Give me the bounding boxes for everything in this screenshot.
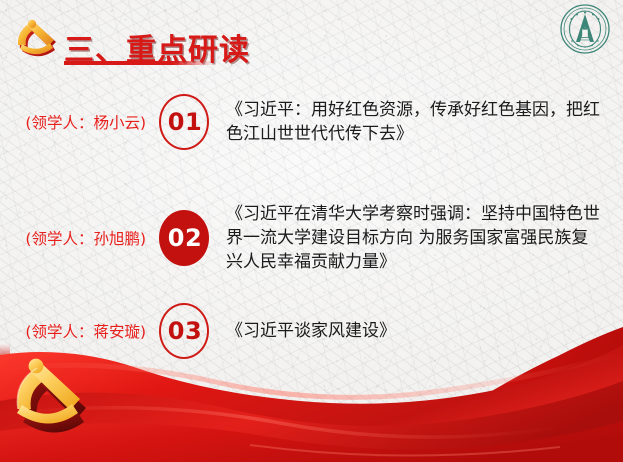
document-title[interactable]: 《习近平：用好红色资源，传承好红色基因，把红色江山世世代代传下去》 (218, 98, 623, 146)
slide-header: 三、重点研读 (0, 0, 623, 78)
item-number-badge: 01 (156, 93, 214, 151)
party-emblem-gold-icon (6, 352, 94, 438)
leader-label: (领学人：杨小云) (0, 111, 152, 133)
badge-number: 02 (168, 224, 202, 252)
leader-label: (领学人：孙旭鹏) (0, 227, 152, 249)
slide-canvas: 三、重点研读 (领学人：杨小云) (0, 0, 623, 462)
list-item[interactable]: (领学人：杨小云) 01 《习近平：用好红色资源，传承好红色基因，把红色江山世世… (0, 86, 623, 158)
list-item[interactable]: (领学人：孙旭鹏) 02 《习近平在清华大学考察时强调：坚持中国特色世界一流大学… (0, 188, 623, 288)
badge-number: 03 (168, 317, 202, 345)
red-silk-ribbon (0, 327, 623, 462)
document-title[interactable]: 《习近平在清华大学考察时强调：坚持中国特色世界一流大学建设目标方向 为服务国家富… (218, 202, 623, 274)
item-number-badge: 02 (156, 209, 214, 267)
title-underline (64, 61, 214, 65)
study-list: (领学人：杨小云) 01 《习近平：用好红色资源，传承好红色基因，把红色江山世世… (0, 78, 623, 358)
university-seal-icon (559, 3, 611, 55)
party-emblem-icon (12, 12, 64, 60)
badge-number: 01 (168, 108, 202, 136)
